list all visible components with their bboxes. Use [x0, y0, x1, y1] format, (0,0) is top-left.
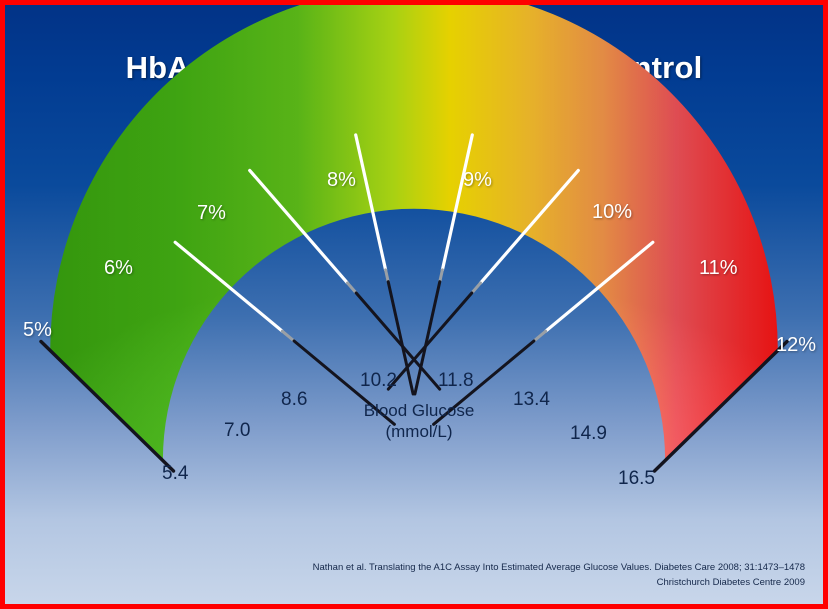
glucose-tick-label-11-8: 11.8: [438, 370, 474, 392]
footer: Nathan et al. Translating the A1C Assay …: [313, 560, 805, 590]
slide-canvas: HbA1c as indicator of Diabetes Control H…: [5, 5, 823, 604]
glucose-tick-label-7-0: 7.0: [224, 420, 250, 442]
hba1c-tick-label-12: 12%: [776, 334, 816, 357]
glucose-tick-label-10-2: 10.2: [360, 370, 397, 392]
footer-source: Christchurch Diabetes Centre 2009: [313, 575, 805, 590]
hba1c-tick-label-8: 8%: [327, 169, 356, 192]
footer-citation: Nathan et al. Translating the A1C Assay …: [313, 560, 805, 575]
hba1c-tick-label-10: 10%: [592, 201, 632, 224]
glucose-tick-label-14-9: 14.9: [570, 423, 607, 445]
blood-glucose-caption-line-1: Blood Glucose: [339, 400, 499, 421]
hba1c-tick-label-7: 7%: [197, 202, 226, 225]
gauge-arc-chart: [5, 5, 823, 604]
glucose-tick-label-16-5: 16.5: [618, 468, 655, 490]
blood-glucose-caption-line-2: (mmol/L): [339, 421, 499, 442]
glucose-tick-label-13-4: 13.4: [513, 389, 550, 411]
blood-glucose-axis-caption: Blood Glucose (mmol/L): [339, 400, 499, 442]
hba1c-tick-label-5: 5%: [23, 319, 52, 342]
glucose-tick-label-8-6: 8.6: [281, 389, 307, 411]
hba1c-tick-label-11: 11%: [699, 257, 738, 280]
hba1c-tick-label-9: 9%: [463, 169, 492, 192]
hba1c-tick-label-6: 6%: [104, 257, 133, 280]
glucose-tick-label-5-4: 5.4: [162, 463, 188, 485]
